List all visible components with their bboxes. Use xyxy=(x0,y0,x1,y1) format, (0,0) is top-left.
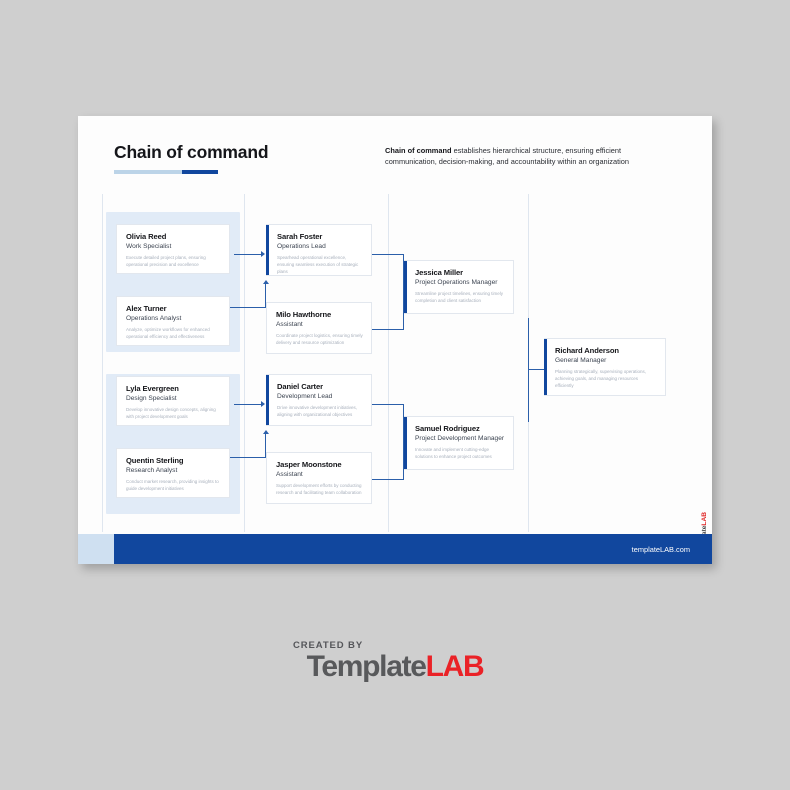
card-role: Project Operations Manager xyxy=(415,279,505,286)
card-accent-bar xyxy=(404,261,407,313)
connector-arrow-daniel-bottom xyxy=(263,430,269,434)
card-role: Operations Analyst xyxy=(126,315,221,322)
connector-arrow-sarah-bottom xyxy=(263,280,269,284)
card-description: Coordinate project logistics, ensuring t… xyxy=(276,333,363,347)
card-description: Analyze, optimize workflows for enhanced… xyxy=(126,327,221,341)
templatelab-logo: CREATED BY TemplateLAB xyxy=(0,640,790,682)
connector-samuel-spine xyxy=(528,369,529,422)
connector-olivia-to-sarah xyxy=(234,254,263,255)
connector-jasper-out xyxy=(371,479,404,480)
org-card-samuel-rodriguez[interactable]: Samuel Rodriguez Project Development Man… xyxy=(404,416,514,470)
card-accent-bar xyxy=(266,375,269,425)
org-card-daniel-carter[interactable]: Daniel Carter Development Lead Drive inn… xyxy=(266,374,372,426)
card-name: Richard Anderson xyxy=(555,346,657,355)
connector-milo-out xyxy=(371,329,404,330)
org-card-richard-anderson[interactable]: Richard Anderson General Manager Plannin… xyxy=(544,338,666,396)
org-card-jasper-moonstone[interactable]: Jasper Moonstone Assistant Support devel… xyxy=(266,452,372,504)
connector-jessica-spine xyxy=(528,318,529,370)
card-role: Project Development Manager xyxy=(415,435,505,442)
logo-wordmark: TemplateLAB xyxy=(307,652,484,682)
logo-lab-text: LAB xyxy=(426,650,484,683)
card-description: Support development efforts by conductin… xyxy=(276,483,363,497)
card-role: Assistant xyxy=(276,471,363,478)
org-card-sarah-foster[interactable]: Sarah Foster Operations Lead Spearhead o… xyxy=(266,224,372,276)
connector-arrow-daniel-in xyxy=(261,401,265,407)
card-accent-bar xyxy=(266,225,269,275)
org-card-olivia-reed[interactable]: Olivia Reed Work Specialist Execute deta… xyxy=(116,224,230,274)
card-name: Olivia Reed xyxy=(126,232,221,241)
card-accent-bar xyxy=(544,339,547,395)
card-description: Conduct market research, providing insig… xyxy=(126,479,221,493)
card-role: Work Specialist xyxy=(126,243,221,250)
card-name: Jessica Miller xyxy=(415,268,505,277)
card-name: Milo Hawthorne xyxy=(276,310,363,319)
footer-swatch xyxy=(78,534,114,564)
card-description: Spearhead operational excellence, ensuri… xyxy=(277,255,363,276)
card-name: Sarah Foster xyxy=(277,232,363,241)
org-card-alex-turner[interactable]: Alex Turner Operations Analyst Analyze, … xyxy=(116,296,230,346)
card-name: Samuel Rodriguez xyxy=(415,424,505,433)
card-description: Develop innovative design concepts, alig… xyxy=(126,407,221,421)
subtitle-emphasis: Chain of command xyxy=(385,146,452,155)
connector-sarah-out xyxy=(371,254,404,255)
org-card-lyla-evergreen[interactable]: Lyla Evergreen Design Specialist Develop… xyxy=(116,376,230,426)
side-watermark-lab: LAB xyxy=(701,512,708,526)
card-role: Research Analyst xyxy=(126,467,221,474)
card-description: Streamline project timelines, ensuring t… xyxy=(415,291,505,305)
page-subtitle: Chain of command establishes hierarchica… xyxy=(385,146,670,168)
card-description: Drive innovative development initiatives… xyxy=(277,405,363,419)
title-rule-accent xyxy=(182,170,218,174)
org-card-milo-hawthorne[interactable]: Milo Hawthorne Assistant Coordinate proj… xyxy=(266,302,372,354)
card-role: Development Lead xyxy=(277,393,363,400)
card-name: Daniel Carter xyxy=(277,382,363,391)
card-role: Design Specialist xyxy=(126,395,221,402)
card-description: Planning strategically, supervising oper… xyxy=(555,369,657,390)
card-accent-bar xyxy=(404,417,407,469)
footer-bar xyxy=(78,534,712,564)
card-name: Lyla Evergreen xyxy=(126,384,221,393)
card-role: Operations Lead xyxy=(277,243,363,250)
card-description: Execute detailed project plans, ensuring… xyxy=(126,255,221,269)
logo-template-text: Template xyxy=(307,650,426,683)
column-separator-3 xyxy=(388,194,389,532)
card-role: Assistant xyxy=(276,321,363,328)
slide-canvas: Chain of command Chain of command establ… xyxy=(78,116,712,564)
card-name: Quentin Sterling xyxy=(126,456,221,465)
card-name: Alex Turner xyxy=(126,304,221,313)
title-rule-light xyxy=(114,170,182,174)
org-card-jessica-miller[interactable]: Jessica Miller Project Operations Manage… xyxy=(404,260,514,314)
card-description: Innovate and implement cutting-edge solu… xyxy=(415,447,505,461)
connector-lyla-to-daniel xyxy=(234,404,263,405)
connector-daniel-out xyxy=(371,404,404,405)
org-card-quentin-sterling[interactable]: Quentin Sterling Research Analyst Conduc… xyxy=(116,448,230,498)
column-separator-1 xyxy=(102,194,103,532)
card-role: General Manager xyxy=(555,357,657,364)
column-separator-2 xyxy=(244,194,245,532)
card-name: Jasper Moonstone xyxy=(276,460,363,469)
connector-arrow-sarah-in xyxy=(261,251,265,257)
footer-website: templateLAB.com xyxy=(632,545,690,554)
page-title: Chain of command xyxy=(114,142,268,163)
